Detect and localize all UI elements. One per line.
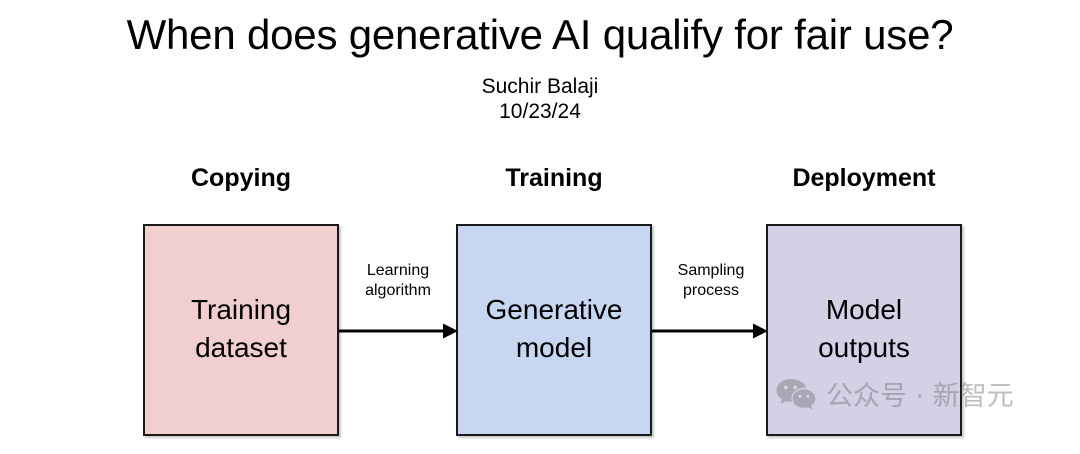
edge-label-sampling-process: Sampling process (648, 261, 774, 301)
arrow-right-icon-sampling (652, 320, 768, 342)
node-model-outputs: Model outputs (766, 224, 962, 436)
page-title: When does generative AI qualify for fair… (0, 8, 1080, 62)
node-generative-model-label: Generative model (486, 291, 623, 369)
arrow-right-icon-learning (339, 320, 458, 342)
author-name: Suchir Balaji (482, 75, 599, 98)
node-model-outputs-label: Model outputs (818, 291, 910, 369)
stage-header-training: Training (456, 163, 652, 193)
node-training-dataset: Training dataset (143, 224, 339, 436)
node-training-dataset-label: Training dataset (191, 291, 291, 369)
node-generative-model: Generative model (456, 224, 652, 436)
slide-canvas: When does generative AI qualify for fair… (0, 0, 1080, 454)
edge-label-learning-algorithm: Learning algorithm (333, 261, 463, 301)
stage-header-deployment: Deployment (766, 163, 962, 193)
presentation-date: 10/23/24 (0, 99, 1080, 124)
slide-subtitle: Suchir Balaji 10/23/24 (0, 74, 1080, 124)
stage-header-copying: Copying (143, 163, 339, 193)
